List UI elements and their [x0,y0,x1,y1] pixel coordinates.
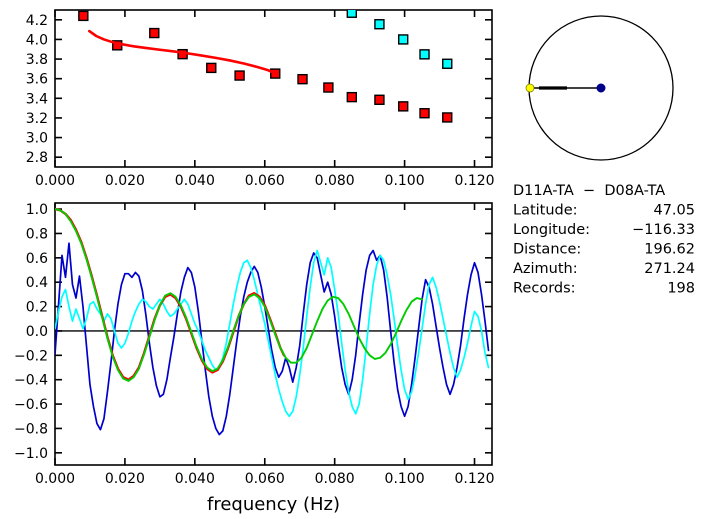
data-point-marker [324,83,333,92]
series-layer [55,209,489,434]
data-point-marker [150,29,159,38]
y-tick-label: 4.2 [26,13,48,29]
station-pair-label: D11A-TA − D08A-TA [513,183,665,199]
y-tick-label: −0.6 [14,397,48,413]
panel-velocity-dispersion: 0.0000.0200.0400.0600.0800.1000.1202.83.… [26,8,495,189]
y-tick-label: −0.8 [14,421,48,437]
x-tick-label: 0.100 [385,471,425,487]
y-tick-label: 2.8 [26,150,48,166]
y-tick-label: 0.2 [26,300,48,316]
station-info-row: Azimuth:271.24 [513,261,695,277]
data-point-marker [235,71,244,80]
center-station-dot [597,84,605,92]
data-point-marker [399,35,408,44]
y-tick-label: 3.0 [26,131,48,147]
y-tick-label: 0.0 [26,324,48,340]
station-info-value: 271.24 [644,261,695,277]
station-info-value: −116.33 [632,222,695,238]
x-tick-label: 0.020 [105,471,145,487]
y-tick-label: 1.0 [26,202,48,218]
y-tick-label: 3.8 [26,52,48,68]
series-phase-velocity-branch-upper [347,8,451,68]
station-info-value: 198 [667,281,695,297]
station-info-label: Longitude: [513,222,590,238]
panel-cross-correlation-spectra: 0.0000.0200.0400.0600.0800.1000.120−1.0−… [14,202,495,515]
azimuth-circle-diagram [526,16,673,160]
y-tick-label: 0.8 [26,226,48,242]
data-point-marker [420,50,429,59]
station-info-label: Azimuth: [513,261,578,277]
series-observed-imaginary-spectrum [55,251,489,417]
series-observed-real-spectrum [55,243,489,434]
y-tick-label: 4.0 [26,32,48,48]
y-tick-label: −0.4 [14,373,48,389]
x-tick-label: 0.000 [35,173,75,189]
seismic-dispersion-figure: 0.0000.0200.0400.0600.0800.1000.1202.83.… [0,0,703,519]
x-tick-label: 0.000 [35,471,75,487]
x-tick-label: 0.060 [245,173,285,189]
data-point-marker [375,20,384,29]
station-info-label: Latitude: [513,203,578,219]
station-info-row: Records:198 [513,281,695,297]
y-tick-label: −0.2 [14,348,48,364]
series-bessel-model-fit-green [55,209,422,381]
station-info-row: Latitude:47.05 [513,203,695,219]
x-tick-label: 0.020 [105,173,145,189]
x-tick-label: 0.080 [315,173,355,189]
data-point-marker [207,63,216,72]
x-tick-label: 0.080 [315,471,355,487]
x-tick-label: 0.040 [175,173,215,189]
station-info-row: Distance:196.62 [513,242,695,258]
x-axis: 0.0000.0200.0400.0600.0800.1000.120 [35,10,495,189]
series-layer [79,8,452,122]
x-axis: 0.0000.0200.0400.0600.0800.1000.120 [35,203,495,487]
data-point-marker [375,95,384,104]
y-tick-label: 0.4 [26,275,48,291]
data-point-marker [443,59,452,68]
data-point-marker [443,113,452,122]
y-tick-label: 3.2 [26,111,48,127]
series-reference-dispersion-fit [89,31,275,73]
data-point-marker [399,102,408,111]
remote-station-dot [526,84,534,92]
x-tick-label: 0.060 [245,471,285,487]
station-info-row: Longitude:−116.33 [513,222,695,238]
x-tick-label: 0.040 [175,471,215,487]
y-tick-label: 0.6 [26,251,48,267]
data-point-marker [79,11,88,20]
station-info-value: 196.62 [644,242,695,258]
plot-frame [55,10,492,167]
data-point-marker [420,109,429,118]
x-tick-label: 0.100 [385,173,425,189]
station-info-block: D11A-TA − D08A-TALatitude:47.05Longitude… [513,183,695,297]
x-axis-title: frequency (Hz) [207,494,340,515]
station-info-value: 47.05 [653,203,695,219]
station-info-label: Records: [513,281,576,297]
figure-root: 0.0000.0200.0400.0600.0800.1000.1202.83.… [0,0,703,519]
series-phase-velocity-branch-lower [79,11,452,122]
x-tick-label: 0.120 [454,471,494,487]
data-point-marker [347,93,356,102]
y-tick-label: 3.4 [26,91,48,107]
y-tick-label: −1.0 [14,446,48,462]
x-tick-label: 0.120 [454,173,494,189]
plot-frame [55,203,492,465]
station-info-label: Distance: [513,242,581,258]
data-point-marker [298,75,307,84]
y-tick-label: 3.6 [26,72,48,88]
